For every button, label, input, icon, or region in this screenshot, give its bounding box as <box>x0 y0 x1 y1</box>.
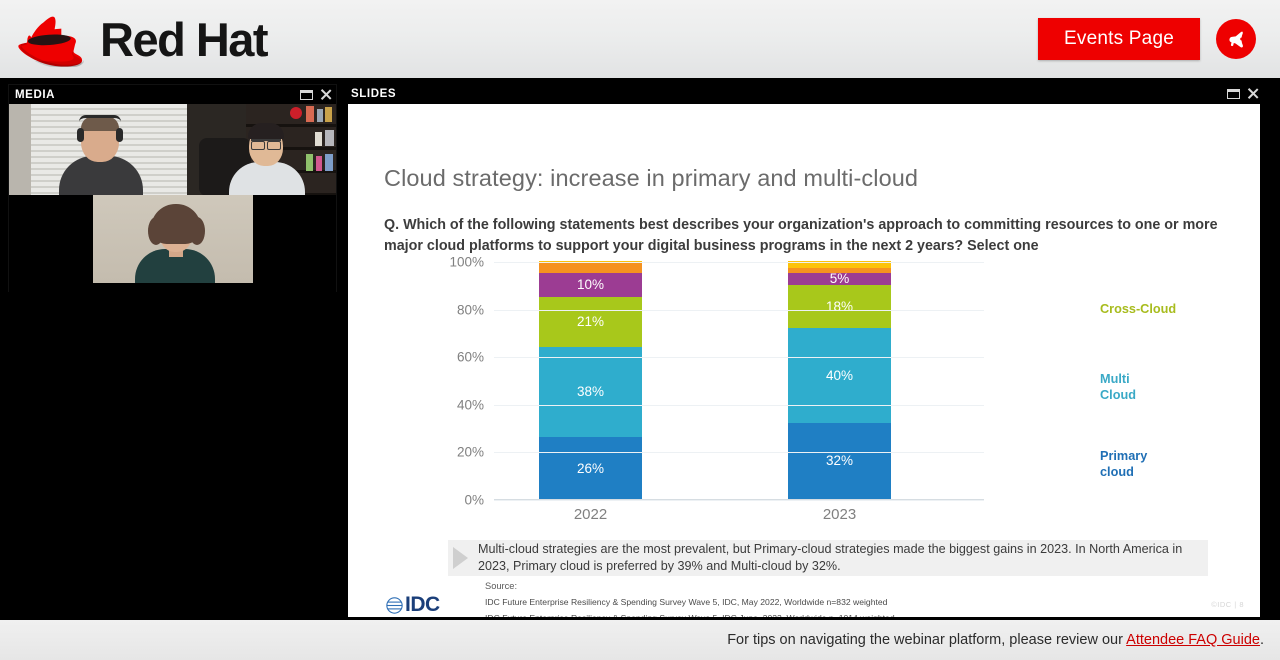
bar-segment-cross-cloud-2023: 18% <box>788 285 891 328</box>
shelf-item <box>325 107 332 122</box>
bar-value-label: 40% <box>826 368 853 383</box>
brand-name: Red Hat <box>100 12 267 67</box>
plot-area: 10%21%38%26% 5%18%40%32% <box>494 262 984 500</box>
shelf-item <box>306 106 314 122</box>
bar-segment-primary-2022: 26% <box>539 437 642 499</box>
slides-panel: SLIDES Cloud strategy: increase in prima… <box>345 84 1263 620</box>
gridline <box>494 310 984 311</box>
idc-globe-icon <box>386 597 403 614</box>
media-panel-titlebar: MEDIA <box>9 85 336 104</box>
idc-logo: IDC <box>386 593 440 617</box>
headset-earcup-right <box>116 128 123 142</box>
source-label: Source: <box>485 581 895 591</box>
app-header: Red Hat Events Page <box>0 0 1280 78</box>
megaphone-icon <box>1225 28 1247 50</box>
video-wall <box>9 104 31 195</box>
annotation-primary-cloud: Primary cloud <box>1100 449 1147 481</box>
bar-value-label: 26% <box>577 461 604 476</box>
announcements-button[interactable] <box>1216 19 1256 59</box>
source-block: Source: IDC Future Enterprise Resiliency… <box>485 581 895 617</box>
y-tick-0: 0% <box>464 493 484 508</box>
annotation-multi-cloud-line2: Cloud <box>1100 388 1136 404</box>
bar-segment-multi-cloud-2023: 40% <box>788 328 891 423</box>
headset-earcup-left <box>77 128 84 142</box>
idc-wordmark: IDC <box>405 593 440 617</box>
y-tick-20: 20% <box>457 445 484 460</box>
person-hair <box>151 204 201 244</box>
y-tick-40: 40% <box>457 397 484 412</box>
annotation-multi-cloud: Multi Cloud <box>1100 372 1136 404</box>
bar-value-label: 18% <box>826 299 853 314</box>
bar-segment-primary-2023: 32% <box>788 423 891 499</box>
annotation-multi-cloud-line1: Multi <box>1100 372 1136 388</box>
header-actions: Events Page <box>1038 18 1280 60</box>
person-hair <box>248 123 284 139</box>
shelf-item <box>317 109 323 122</box>
shelf-item <box>315 132 322 146</box>
slides-panel-controls <box>1227 87 1259 100</box>
bar-value-label: 10% <box>577 277 604 292</box>
bar-value-label: 32% <box>826 453 853 468</box>
y-axis: 0%20%40%60%80%100% <box>438 262 490 500</box>
restore-window-icon[interactable] <box>1227 89 1240 99</box>
gridline <box>494 357 984 358</box>
video-grid[interactable] <box>9 104 336 293</box>
x-tick-2023: 2023 <box>788 506 891 523</box>
annotation-primary-line1: Primary <box>1100 449 1147 465</box>
source-line: IDC Future Enterprise Resiliency & Spend… <box>485 610 895 617</box>
media-panel-title: MEDIA <box>15 89 55 101</box>
slide-question: Q. Which of the following statements bes… <box>384 215 1224 256</box>
bar-segment-multi-cloud-2022: 38% <box>539 347 642 437</box>
bar-segment-open-source-2023: 5% <box>788 273 891 285</box>
app-footer: For tips on navigating the webinar platf… <box>0 620 1280 660</box>
insight-text: Multi-cloud strategies are the most prev… <box>478 541 1208 574</box>
arrow-right-icon <box>453 547 468 569</box>
slide-surface[interactable]: Cloud strategy: increase in primary and … <box>348 104 1260 617</box>
glasses-icon <box>251 139 281 146</box>
y-tick-60: 60% <box>457 350 484 365</box>
headset-band-icon <box>79 115 121 122</box>
slide-title: Cloud strategy: increase in primary and … <box>384 165 918 192</box>
attendee-faq-guide-link[interactable]: Attendee FAQ Guide <box>1126 632 1260 648</box>
shelf-item <box>306 154 313 171</box>
bar-segment-cross-cloud-2022: 21% <box>539 297 642 347</box>
close-icon[interactable] <box>1246 87 1259 100</box>
y-tick-100: 100% <box>449 255 484 270</box>
bar-segment-open-source-2022: 10% <box>539 273 642 297</box>
gridline <box>494 262 984 263</box>
restore-window-icon[interactable] <box>300 90 313 100</box>
participant-video-2[interactable] <box>187 104 336 195</box>
red-hat-logo: Red Hat <box>0 11 267 67</box>
bar-value-label: 21% <box>577 314 604 329</box>
bar-2023[interactable]: 5%18%40%32% <box>788 261 891 499</box>
source-line: IDC Future Enterprise Resiliency & Spend… <box>485 594 895 610</box>
shelf-flower <box>290 107 302 119</box>
footer-tip-text: For tips on navigating the webinar platf… <box>727 632 1264 648</box>
shelf-item <box>316 156 322 171</box>
shelf-item <box>325 130 334 146</box>
x-tick-2022: 2022 <box>539 506 642 523</box>
annotation-primary-line2: cloud <box>1100 465 1147 481</box>
events-page-button[interactable]: Events Page <box>1038 18 1200 60</box>
bar-segment-not-a-significant-role-2022 <box>539 263 642 273</box>
gridline <box>494 452 984 453</box>
red-hat-fedora-icon <box>8 11 94 67</box>
gridline <box>494 405 984 406</box>
stacked-bar-chart: 0%20%40%60%80%100% 10%21%38%26% 5%18%40%… <box>438 262 1238 522</box>
bar-2022[interactable]: 10%21%38%26% <box>539 261 642 499</box>
y-tick-80: 80% <box>457 302 484 317</box>
participant-video-3[interactable] <box>93 195 253 283</box>
gridline <box>494 500 984 501</box>
slides-panel-title: SLIDES <box>351 88 396 100</box>
annotation-cross-cloud: Cross-Cloud <box>1100 302 1176 318</box>
slides-panel-titlebar: SLIDES <box>345 84 1263 103</box>
media-panel-controls <box>300 88 332 101</box>
participant-video-1[interactable] <box>9 104 187 195</box>
bar-value-label: 38% <box>577 384 604 399</box>
footer-tip-suffix: . <box>1260 632 1264 648</box>
close-icon[interactable] <box>319 88 332 101</box>
media-panel: MEDIA <box>8 84 337 292</box>
slide-copyright: ©IDC | 8 <box>1211 600 1244 609</box>
footer-tip-prefix: For tips on navigating the webinar platf… <box>727 632 1126 648</box>
insight-callout: Multi-cloud strategies are the most prev… <box>448 540 1208 576</box>
shelf-item <box>325 154 333 171</box>
